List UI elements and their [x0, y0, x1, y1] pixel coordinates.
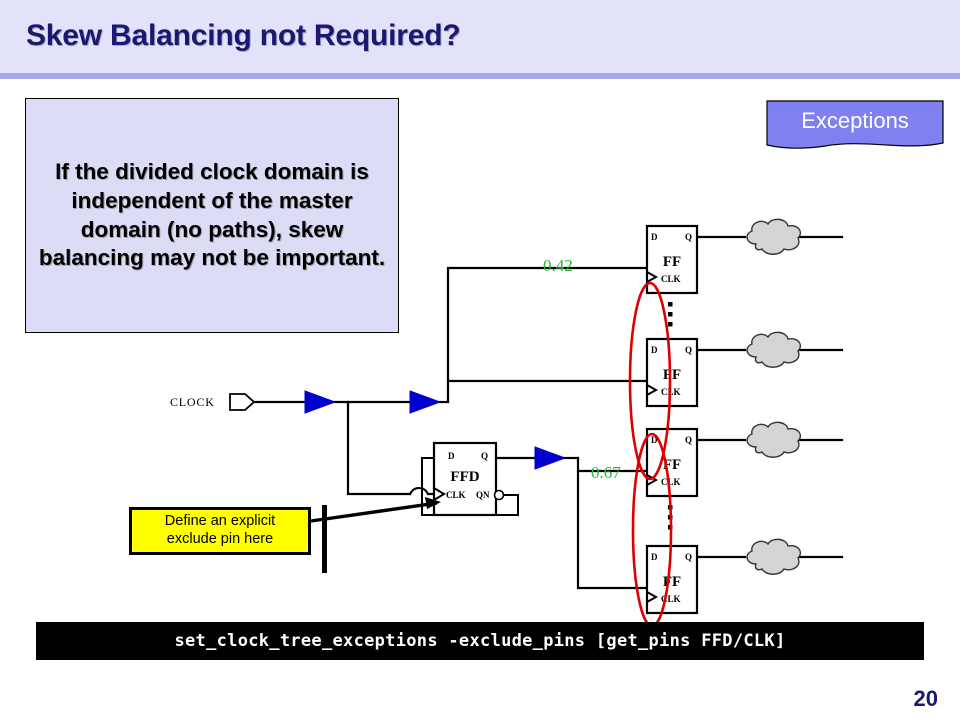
svg-text:D: D: [448, 451, 455, 461]
note-line-2: exclude pin here: [167, 531, 273, 547]
command-bar: set_clock_tree_exceptions -exclude_pins …: [36, 622, 924, 660]
note-anchor-bar: [322, 505, 327, 573]
page-number: 20: [914, 686, 938, 712]
exclude-pin-note-text: Define an explicit exclude pin here: [165, 513, 275, 548]
clock-port-label: CLOCK: [170, 395, 215, 409]
delay-label-lower: 0.67: [591, 463, 621, 482]
delay-label-upper: 0.42: [543, 256, 573, 275]
svg-text:Q: Q: [481, 451, 488, 461]
svg-text:CLK: CLK: [446, 490, 466, 500]
slide-canvas: Skew Balancing not Required? If the divi…: [0, 0, 960, 720]
note-line-1: Define an explicit: [165, 513, 275, 529]
svg-text:FFD: FFD: [450, 469, 479, 485]
command-text: set_clock_tree_exceptions -exclude_pins …: [174, 631, 785, 651]
svg-text:QN: QN: [476, 490, 490, 500]
clock-tree-schematic: D Q FF CLK: [0, 0, 960, 720]
exclude-pin-note: Define an explicit exclude pin here: [129, 507, 311, 555]
logic-cloud-group: [747, 219, 800, 574]
